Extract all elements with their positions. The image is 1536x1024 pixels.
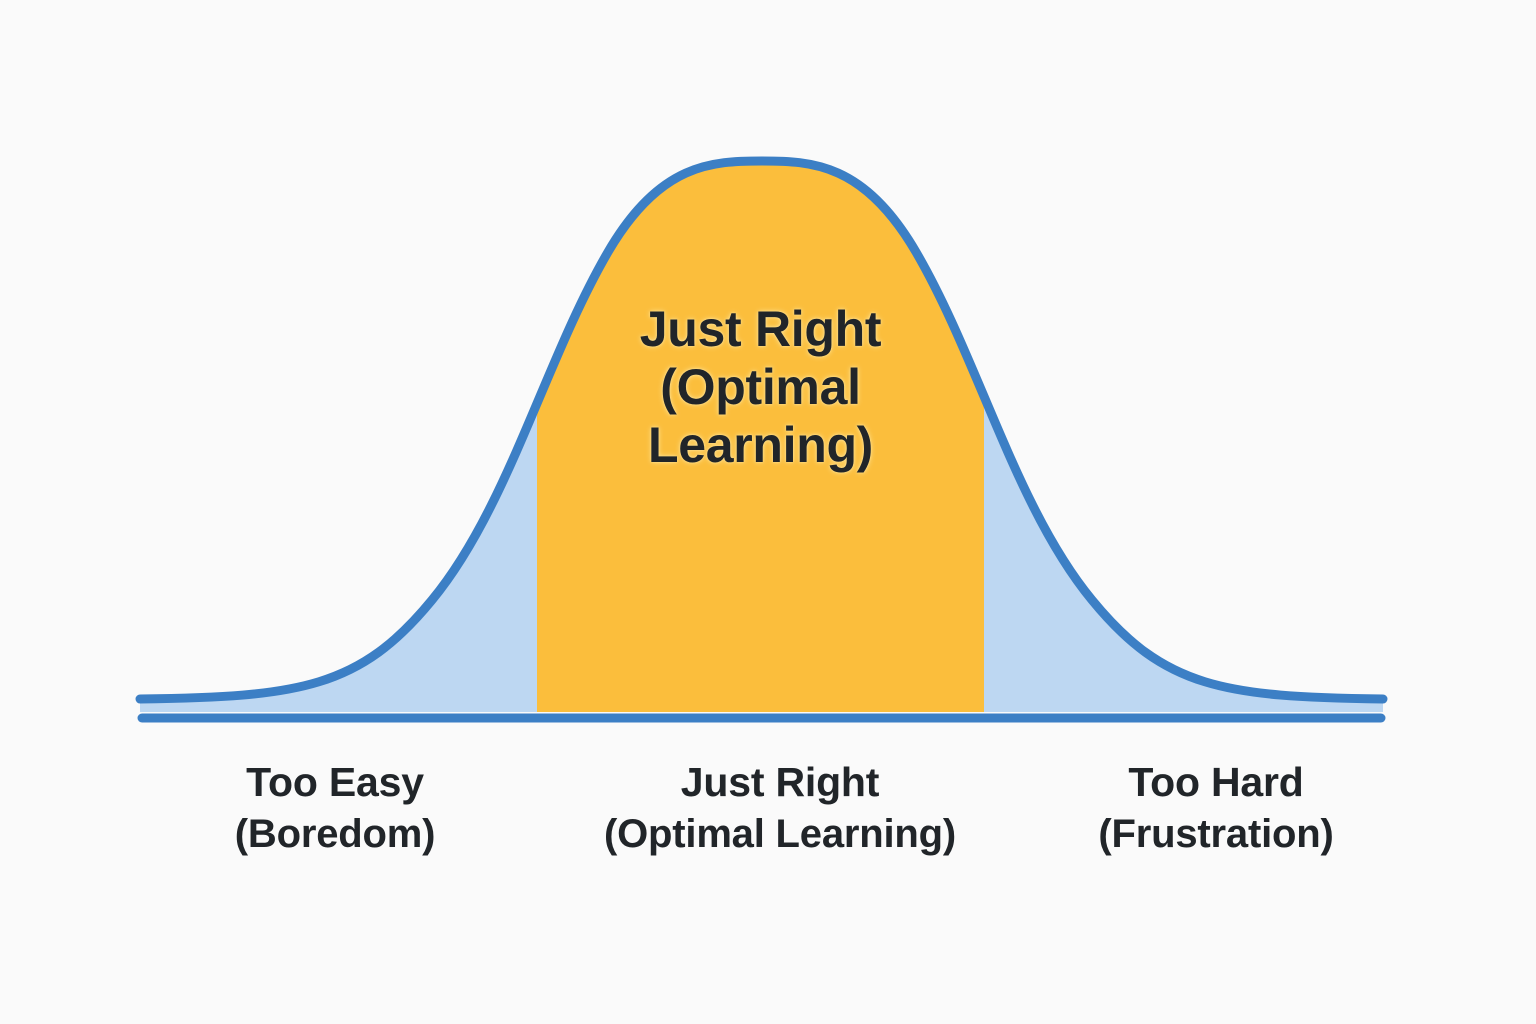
axis-label-just-right: Just Right (Optimal Learning)	[540, 757, 1020, 859]
axis-label-too-hard: Too Hard (Frustration)	[1030, 757, 1402, 859]
axis-label-too-easy-line2: (Boredom)	[150, 809, 520, 859]
axis-label-too-easy: Too Easy (Boredom)	[150, 757, 520, 859]
axis-label-just-right-line1: Just Right	[540, 757, 1020, 809]
axis-label-too-hard-line1: Too Hard	[1030, 757, 1402, 809]
optimal-zone-band	[537, 140, 984, 720]
axis-label-too-easy-line1: Too Easy	[150, 757, 520, 809]
axis-label-just-right-line2: (Optimal Learning)	[540, 809, 1020, 859]
diagram-canvas: Just Right (Optimal Learning) Too Easy (…	[0, 0, 1536, 1024]
axis-label-too-hard-line2: (Frustration)	[1030, 809, 1402, 859]
axis-label-row: Too Easy (Boredom) Just Right (Optimal L…	[0, 757, 1536, 917]
